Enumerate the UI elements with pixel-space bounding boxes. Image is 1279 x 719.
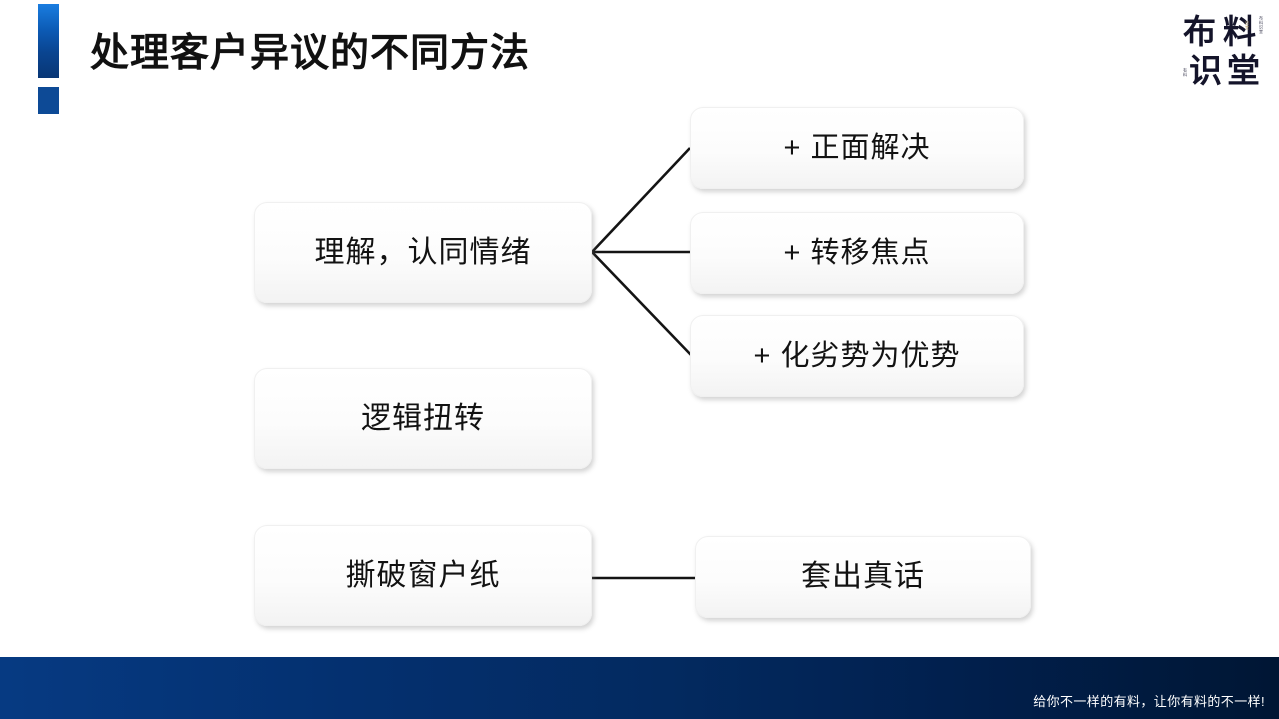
- node-break-paper[interactable]: 撕破窗户纸: [254, 525, 592, 626]
- node-face-solve-label: + 正面解决: [784, 130, 931, 166]
- diagram-connectors: [0, 0, 1279, 719]
- logo-character-4: 堂: [1227, 52, 1260, 90]
- node-shift-focus-label: + 转移焦点: [784, 235, 931, 271]
- node-turn-weakness[interactable]: + 化劣势为优势: [690, 315, 1024, 397]
- node-shift-focus[interactable]: + 转移焦点: [690, 212, 1024, 294]
- slide-canvas: 处理客户异议的不同方法 布 料 识 堂 布料识堂 识堂 有料 理解，认同情绪 逻…: [0, 0, 1279, 719]
- node-logic-twist-label: 逻辑扭转: [361, 401, 485, 437]
- logo-character-1: 布: [1183, 13, 1216, 51]
- logo-character-grid: 布 料 识 堂 布料识堂 识堂 有料: [1181, 12, 1265, 92]
- node-understand-label: 理解，认同情绪: [315, 235, 532, 271]
- connector-understand-to-face-solve: [592, 148, 690, 252]
- logo-tick-mark-3: 有料: [1183, 68, 1188, 77]
- footer-tagline: 给你不一样的有料，让你有料的不一样!: [1033, 693, 1265, 711]
- brand-logo: 布 料 识 堂 布料识堂 识堂 有料: [1181, 12, 1265, 92]
- node-break-paper-label: 撕破窗户纸: [346, 558, 501, 594]
- node-get-truth[interactable]: 套出真话: [695, 536, 1031, 618]
- node-logic-twist[interactable]: 逻辑扭转: [254, 368, 592, 469]
- title-accent-square: [38, 87, 59, 114]
- connector-understand-to-turn-weakness: [592, 252, 692, 356]
- node-turn-weakness-label: + 化劣势为优势: [754, 338, 961, 374]
- logo-tick-mark-2: 识堂: [1245, 21, 1250, 30]
- node-understand[interactable]: 理解，认同情绪: [254, 202, 592, 303]
- node-get-truth-label: 套出真话: [801, 559, 925, 595]
- title-accent-bar: [38, 4, 59, 78]
- logo-character-3: 识: [1189, 52, 1222, 90]
- page-title: 处理客户异议的不同方法: [90, 28, 530, 80]
- logo-character-2: 料: [1223, 13, 1256, 51]
- logo-tick-mark-1: 布料识堂: [1259, 16, 1264, 34]
- node-face-solve[interactable]: + 正面解决: [690, 107, 1024, 189]
- footer-band: 给你不一样的有料，让你有料的不一样!: [0, 657, 1279, 719]
